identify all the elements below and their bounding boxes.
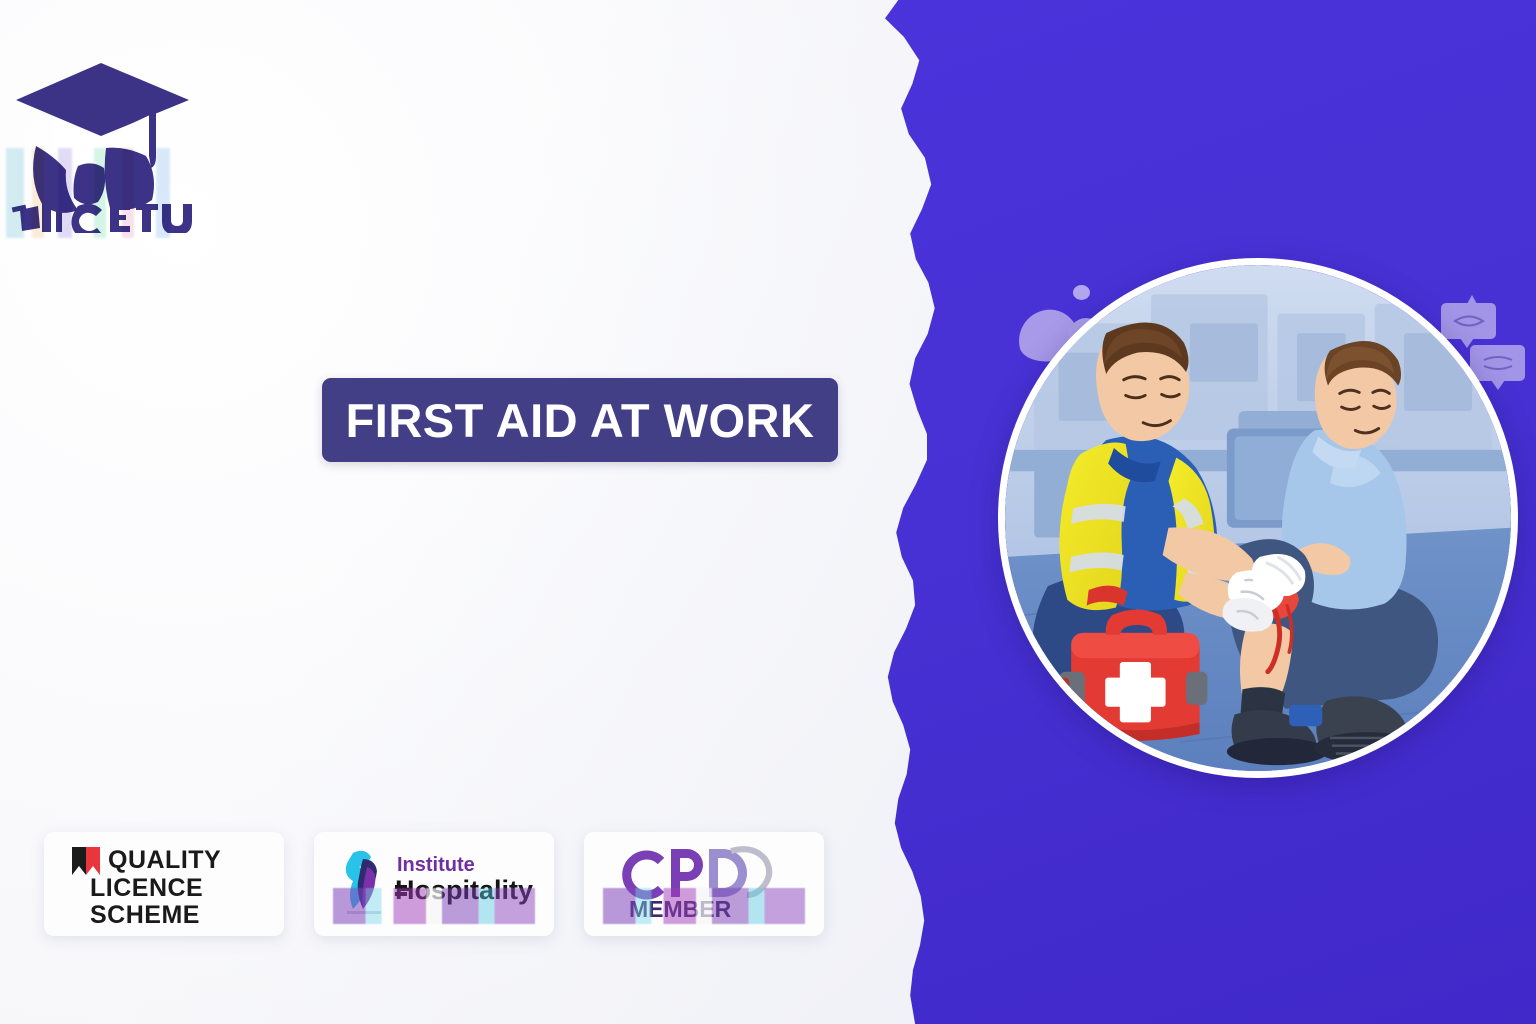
hospitality-mark-icon bbox=[346, 851, 381, 914]
svg-text:Institute: Institute bbox=[397, 854, 475, 876]
quality-mark-icon bbox=[72, 847, 100, 875]
bubble-eye-icon-2 bbox=[1482, 355, 1514, 371]
svg-text:MEMBER: MEMBER bbox=[629, 896, 732, 922]
page-title: FIRST AID AT WORK bbox=[346, 393, 815, 448]
decorative-chat-bubble-2 bbox=[1470, 345, 1525, 381]
decorative-chat-bubble-1 bbox=[1441, 303, 1496, 339]
course-title-banner: FIRST AID AT WORK bbox=[322, 378, 838, 462]
cpd-mark-icon bbox=[627, 855, 661, 895]
svg-text:SCHEME: SCHEME bbox=[90, 901, 200, 927]
promo-banner-stage: FIRST AID AT WORK QUALITY LICENCE SCHEME bbox=[0, 0, 1536, 1024]
accreditation-badge-row: QUALITY LICENCE SCHEME Institute Hospita… bbox=[44, 832, 824, 936]
badge-cpd-member[interactable]: MEMBER bbox=[584, 832, 824, 936]
badge-institute-of-hospitality[interactable]: Institute Hospitality bbox=[314, 832, 554, 936]
bubble-eye-icon bbox=[1453, 313, 1485, 329]
badge-quality-licence-scheme[interactable]: QUALITY LICENCE SCHEME bbox=[44, 832, 284, 936]
svg-text:QUALITY: QUALITY bbox=[108, 846, 221, 874]
brand-logo[interactable] bbox=[6, 28, 206, 233]
hero-image-circle bbox=[998, 258, 1518, 778]
svg-text:Hospitality: Hospitality bbox=[395, 875, 533, 905]
svg-text:LICENCE: LICENCE bbox=[90, 874, 203, 902]
